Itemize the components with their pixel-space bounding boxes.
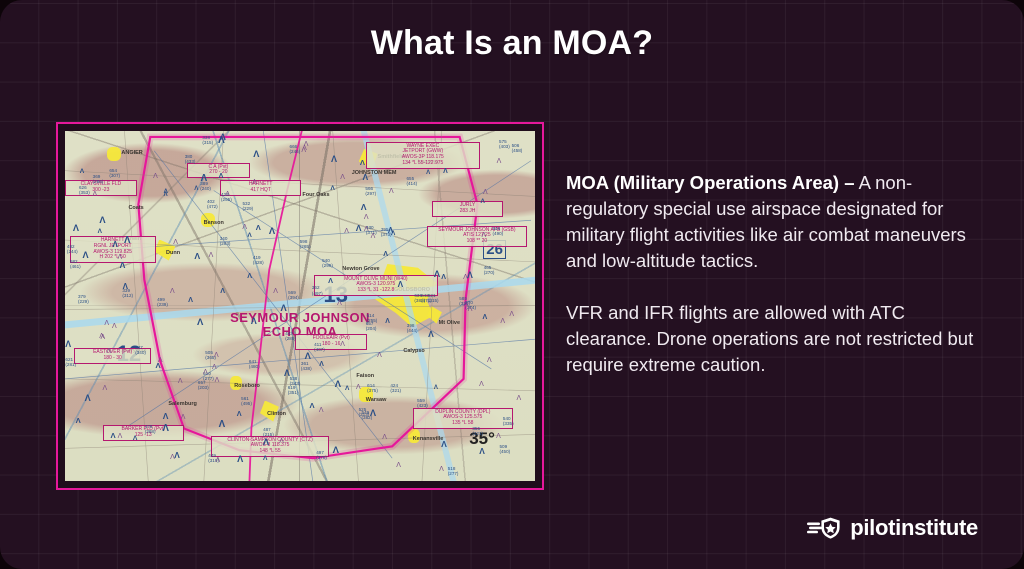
obstruction-mark: Λ [344, 228, 349, 235]
obstruction-mark: Λ [509, 311, 514, 318]
obstruction-mark: Λ [253, 150, 259, 159]
description-block: MOA (Military Operations Area) – A non-r… [566, 170, 978, 378]
obstruction-mark: Λ [361, 203, 367, 212]
obstruction-mark: Λ [319, 362, 324, 369]
obstruction-mark: Λ [340, 174, 345, 181]
obstruction-mark: Λ [263, 456, 267, 463]
obstruction-mark: 355(421) [472, 426, 483, 436]
obstruction-mark: Λ [345, 386, 349, 393]
obstruction-mark: Λ [237, 410, 242, 417]
obstruction-mark: 411(407) [314, 342, 325, 352]
facility-info-box: DUPLIN COUNTY (DPL)AWOS-3 125.575135 *L … [413, 408, 513, 429]
obstruction-mark: 540(335) [503, 416, 514, 426]
place-label: Mt Olive [439, 320, 460, 326]
obstruction-mark: Λ [356, 224, 362, 233]
obstruction-mark: 626(353) [79, 185, 90, 195]
obstruction-mark: Λ [443, 169, 448, 176]
brand-logo[interactable]: pilotinstitute [807, 515, 978, 541]
obstruction-mark: Λ [273, 288, 278, 295]
winged-shield-star-icon [807, 516, 841, 540]
obstruction-mark: Λ [279, 438, 284, 445]
obstruction-mark: Λ [112, 241, 117, 249]
obstruction-mark: Λ [112, 323, 117, 330]
place-label: Calypso [403, 348, 424, 354]
obstruction-mark: 482(244) [67, 244, 78, 254]
obstruction-mark: Λ [197, 318, 203, 328]
obstruction-mark: 340(293) [220, 236, 231, 246]
place-label: JOHNSTON MEM [352, 170, 397, 176]
obstruction-mark: 654(307) [109, 168, 120, 178]
obstruction-mark: Λ [117, 254, 122, 261]
obstruction-mark: Λ [479, 447, 485, 455]
obstruction-mark: Λ [215, 377, 220, 384]
obstruction-mark: Λ [251, 317, 257, 326]
obstruction-mark: 559(423) [417, 398, 428, 408]
obstruction-mark: Λ [487, 357, 492, 364]
obstruction-mark: 540(296) [322, 258, 333, 268]
obstruction-mark: Λ [237, 455, 243, 464]
obstruction-mark: 443(285) [285, 331, 296, 341]
obstruction-mark: 370(374) [465, 300, 476, 310]
obstruction-mark: 657(203) [198, 380, 209, 390]
obstruction-mark: Λ [269, 226, 275, 235]
obstruction-mark: Λ [263, 437, 269, 446]
place-label: Clinton [267, 411, 286, 417]
obstruction-mark: Λ [164, 189, 168, 195]
obstruction-mark: Λ [194, 186, 198, 192]
obstruction-mark: Λ [163, 412, 169, 421]
obstruction-mark: 614(375) [367, 383, 378, 393]
obstruction-mark: 655(414) [406, 176, 417, 186]
obstruction-mark: Λ [118, 433, 123, 440]
obstruction-mark: Λ [156, 362, 161, 370]
obstruction-mark: Λ [333, 446, 339, 456]
facility-info-box: SEYMOUR JOHNSON AFB (GSB)ATIS 127.25108 … [427, 226, 527, 247]
place-label: Four Oaks [302, 192, 329, 198]
obstruction-mark: Λ [383, 250, 388, 257]
obstruction-mark: 566(297) [365, 186, 376, 196]
obstruction-mark: Λ [483, 189, 488, 196]
place-label: Kenansville [413, 436, 444, 442]
obstruction-mark: Λ [364, 214, 369, 221]
obstruction-mark: 389(240) [200, 181, 211, 191]
obstruction-mark: Λ [480, 199, 484, 206]
page-title: What Is an MOA? [0, 24, 1024, 63]
obstruction-mark: 621(215) [428, 293, 439, 303]
obstruction-mark: Λ [219, 172, 224, 179]
place-label: Faison [356, 373, 374, 379]
obstruction-mark: Λ [362, 173, 368, 182]
obstruction-mark: Λ [337, 300, 342, 307]
obstruction-mark: Λ [252, 179, 257, 186]
obstruction-mark: 338(315) [202, 135, 213, 145]
obstruction-mark: Λ [330, 186, 334, 193]
obstruction-mark: Λ [328, 277, 333, 284]
facility-info-box: WAYNE EXECJETPORT (GWW)AWOS-3P 118.17513… [366, 142, 480, 169]
obstruction-mark: 419(428) [253, 255, 264, 265]
obstruction-mark: Λ [181, 414, 186, 421]
place-label: Coats [128, 205, 143, 211]
facility-info-box: HARNETT417 HQT [220, 180, 301, 196]
obstruction-mark: 532(229) [242, 201, 253, 211]
obstruction-mark: 379(229) [78, 294, 89, 304]
obstruction-mark: 402(472) [207, 199, 218, 209]
obstruction-mark: Λ [335, 379, 341, 388]
obstruction-mark: Λ [370, 409, 376, 418]
place-label: Warsaw [366, 397, 387, 403]
obstruction-mark: Λ [305, 351, 311, 360]
obstruction-mark: Λ [483, 314, 488, 321]
obstruction-mark: 561(495) [241, 396, 252, 406]
obstruction-mark: Λ [247, 272, 252, 279]
obstruction-mark: 478(368) [145, 424, 156, 434]
obstruction-mark: 339(312) [122, 288, 133, 298]
obstruction-mark: Λ [467, 271, 473, 280]
obstruction-mark: Λ [301, 147, 306, 154]
obstruction-mark: Λ [219, 420, 226, 430]
obstruction-mark: 619(351) [288, 385, 299, 395]
obstruction-mark: Λ [497, 158, 502, 165]
obstruction-mark: Λ [104, 320, 109, 327]
obstruction-mark: Λ [280, 304, 286, 313]
obstruction-mark: 369(286) [93, 174, 104, 184]
obstruction-mark: 361(438) [301, 361, 312, 371]
obstruction-mark: 525(213) [359, 407, 370, 417]
obstruction-mark: Λ [73, 224, 79, 233]
obstruction-mark: Λ [426, 170, 430, 176]
definition-lead: MOA (Military Operations Area) – [566, 172, 855, 193]
obstruction-mark: Λ [356, 384, 361, 391]
obstruction-mark: Λ [111, 432, 116, 440]
obstruction-mark: Λ [153, 173, 158, 180]
obstruction-mark: Λ [120, 261, 126, 270]
obstruction-mark: Λ [99, 216, 105, 225]
obstruction-mark: 380(433) [185, 154, 196, 164]
obstruction-mark: Λ [216, 457, 221, 464]
brand-wordmark: pilotinstitute [850, 515, 978, 541]
obstruction-mark: Λ [388, 227, 393, 235]
obstruction-mark: Λ [209, 252, 214, 259]
place-label: ANGIER [121, 150, 142, 156]
obstruction-mark: 575(403) [499, 139, 510, 149]
obstruction-mark: 347(340) [135, 345, 146, 355]
obstruction-mark: 598(265) [300, 239, 311, 249]
obstruction-mark: Λ [482, 232, 487, 239]
obstruction-mark: 499(239) [157, 297, 168, 307]
obstruction-mark: Λ [93, 191, 98, 198]
obstruction-mark: Λ [65, 340, 71, 349]
obstruction-mark: Λ [85, 394, 91, 403]
obstruction-mark: Λ [247, 233, 251, 240]
obstruction-mark: Λ [188, 296, 193, 303]
obstruction-mark: Λ [82, 251, 88, 260]
obstruction-mark: Λ [319, 407, 324, 414]
obstruction-mark: Λ [284, 369, 290, 378]
obstruction-mark: Λ [220, 133, 226, 142]
obstruction-mark: 509(450) [499, 444, 510, 454]
obstruction-mark: Λ [162, 424, 169, 434]
obstruction-mark: Λ [516, 395, 521, 402]
place-label: Newton Grove [342, 266, 379, 272]
obstruction-mark: Λ [371, 233, 376, 240]
obstruction-mark: 518(277) [448, 466, 459, 476]
obstruction-mark: 497(378) [316, 450, 327, 460]
obstruction-mark: 506(458) [512, 143, 523, 153]
obstruction-mark: Λ [389, 188, 394, 195]
obstruction-mark: Λ [173, 239, 178, 246]
obstruction-mark: Λ [203, 369, 208, 376]
obstruction-mark: Λ [170, 288, 175, 295]
obstruction-mark: Λ [434, 385, 438, 391]
obstruction-mark: Λ [441, 440, 447, 449]
obstruction-mark: 621(281) [65, 357, 76, 367]
facility-info-box: CLINTON-SAMPSON COUNTY (CTZ)AWOS-3 118.3… [211, 436, 330, 457]
obstruction-mark: Λ [174, 451, 180, 459]
obstruction-mark: Λ [382, 434, 387, 441]
obstruction-mark: Λ [220, 287, 225, 294]
obstruction-mark: Λ [256, 224, 261, 232]
obstruction-mark: Λ [124, 236, 130, 246]
paragraph-definition: MOA (Military Operations Area) – A non-r… [566, 170, 978, 274]
obstruction-mark: 465(270) [484, 265, 495, 275]
obstruction-mark: 666(246) [290, 144, 301, 154]
obstruction-mark: Λ [99, 333, 104, 340]
obstruction-mark: Λ [364, 226, 369, 233]
obstruction-mark: Λ [242, 224, 247, 231]
obstruction-mark: 424(321) [390, 383, 401, 393]
obstruction-mark: Λ [340, 341, 345, 348]
obstruction-mark: Λ [396, 462, 401, 469]
place-label: Benson [204, 220, 224, 226]
obstruction-mark: Λ [76, 417, 81, 425]
obstruction-mark: 582(461) [70, 259, 81, 269]
obstruction-mark: Λ [496, 433, 501, 440]
obstruction-mark: 398(444) [407, 323, 418, 333]
obstruction-mark: 569(394) [288, 290, 299, 300]
obstruction-mark: 657(204) [366, 321, 377, 331]
obstruction-mark: Λ [360, 159, 365, 167]
obstruction-mark: Λ [178, 378, 183, 385]
obstruction-mark: Λ [385, 319, 390, 326]
obstruction-mark: Λ [398, 280, 404, 288]
obstruction-mark: Λ [428, 330, 434, 339]
sectional-chart-card[interactable]: SEYMOUR JOHNSON ECHO MOA 12 13 26 35° AN… [56, 122, 544, 490]
obstruction-mark: Λ [107, 348, 112, 355]
obstruction-mark: Λ [500, 318, 505, 325]
obstruction-mark: Λ [102, 385, 107, 392]
obstruction-mark: Λ [439, 466, 444, 473]
obstruction-mark: Λ [441, 274, 446, 281]
obstruction-mark: 641(480) [249, 359, 260, 369]
obstruction-mark: Λ [434, 269, 440, 278]
paragraph-operations: VFR and IFR flights are allowed with ATC… [566, 300, 978, 378]
obstruction-mark: Λ [225, 191, 230, 198]
obstruction-mark: 636(382) [414, 293, 425, 303]
sectional-chart-viewport[interactable]: SEYMOUR JOHNSON ECHO MOA 12 13 26 35° AN… [65, 131, 535, 481]
obstruction-mark: 362(497) [312, 285, 323, 295]
obstruction-mark: Λ [98, 229, 102, 236]
obstruction-mark: Λ [331, 155, 337, 164]
obstruction-mark: Λ [133, 436, 137, 443]
place-label: Dunn [166, 250, 180, 256]
obstruction-mark: Λ [479, 381, 484, 388]
obstruction-mark: Λ [194, 252, 200, 261]
slide-canvas: What Is an MOA? [0, 0, 1024, 569]
place-label: Salemburg [168, 401, 196, 407]
place-label: Roseboro [234, 383, 260, 389]
obstruction-mark: Λ [377, 352, 382, 359]
obstruction-mark: Λ [80, 169, 84, 176]
obstruction-mark: Λ [310, 402, 315, 410]
facility-info-box: JURLY283 JH [432, 201, 504, 217]
obstruction-mark: Λ [214, 352, 219, 359]
obstruction-mark: 646(490) [492, 226, 503, 236]
facility-info-box: FOOLEAIR (Pvt)180 - 16 [295, 334, 367, 350]
